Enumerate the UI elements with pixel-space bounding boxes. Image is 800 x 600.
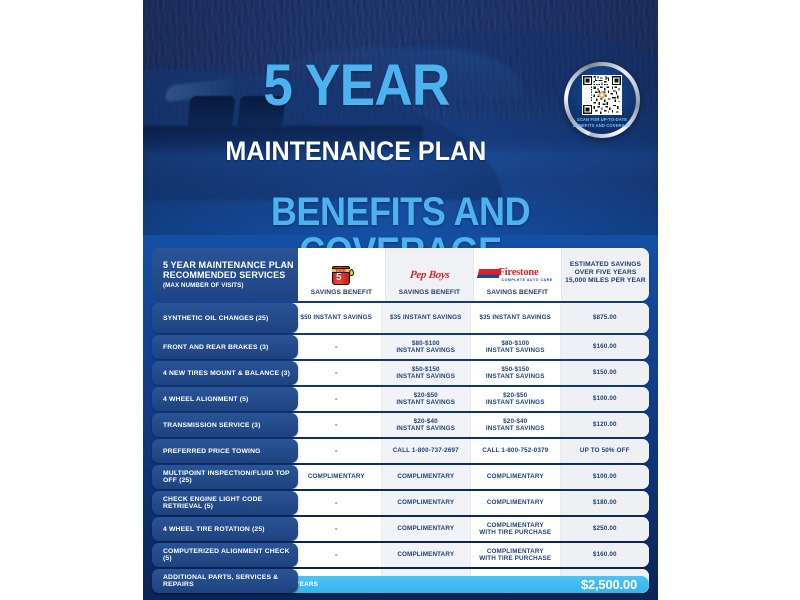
cell-text: $100.00 (593, 473, 617, 480)
qr-code-icon[interactable] (582, 75, 622, 115)
cell-text: COMPLIMENTARY (397, 525, 454, 532)
table-row: PREFERRED PRICE TOWING-CALL 1-800-737-26… (152, 439, 649, 463)
cell-text: $160.00 (593, 343, 617, 350)
table-header-brand-cells: TAKE 5 SAVINGS BENEFIT Pep Boys SAVINGS … (298, 248, 649, 301)
cell-text: $250.00 (593, 525, 617, 532)
table-row: TRANSMISSION SERVICE (3)-$20-$40INSTANT … (152, 413, 649, 437)
pep-boys-logo-icon: Pep Boys (410, 264, 449, 286)
cell-text: INSTANT SAVINGS (486, 347, 545, 354)
cell-text: WITH TIRE PURCHASE (479, 529, 551, 536)
cell-text: INSTANT SAVINGS (396, 399, 455, 406)
cell-firestone: COMPLIMENTARY (471, 465, 561, 489)
cell-text: COMPLIMENTARY (487, 548, 544, 555)
cell-text: UP TO 50% OFF (580, 447, 630, 454)
row-service-label: ADDITIONAL PARTS, SERVICES & REPAIRS (152, 569, 298, 593)
qr-caption-line-2: BENEFITS AND COVERAGE (573, 123, 631, 128)
cell-estimated-savings: UP TO 50% OFF (561, 439, 650, 463)
cell-text: COMPLIMENTARY (397, 551, 454, 558)
cell-text: INSTANT SAVINGS (396, 347, 455, 354)
cell-pep-boys: CALL 1-800-737-2697 (382, 439, 472, 463)
cell-take-5: - (292, 387, 382, 411)
cell-text: $100.00 (593, 395, 617, 402)
cell-text: - (335, 499, 338, 506)
cell-pep-boys: $50-$150INSTANT SAVINGS (382, 361, 472, 385)
cell-pep-boys: COMPLIMENTARY (382, 465, 472, 489)
cell-firestone: COMPLIMENTARYWITH TIRE PURCHASE (471, 543, 561, 567)
cell-text: WITH TIRE PURCHASE (479, 555, 551, 562)
header-label-line-3: (MAX NUMBER OF VISITS) (163, 281, 298, 290)
table-row: 4 WHEEL ALIGNMENT (5)-$20-$50INSTANT SAV… (152, 387, 649, 411)
estimated-savings-line-1: ESTIMATED SAVINGS (570, 261, 641, 268)
cell-text: INSTANT SAVINGS (486, 373, 545, 380)
firestone-logo-icon: Firestone COMPLETE AUTO CARE (478, 264, 558, 286)
benefits-table: 5 YEAR MAINTENANCE PLAN RECOMMENDED SERV… (143, 248, 658, 593)
cell-text: $180.00 (593, 499, 617, 506)
row-service-label: MULTIPOINT INSPECTION/FLUID TOP OFF (25) (152, 465, 298, 489)
cell-text: $80-$100 (412, 340, 440, 347)
row-value-cells: COMPLIMENTARYCOMPLIMENTARYCOMPLIMENTARY$… (292, 465, 649, 489)
cell-text: - (335, 421, 338, 428)
cell-take-5: COMPLIMENTARY (292, 465, 382, 489)
cell-take-5: $50 INSTANT SAVINGS (292, 303, 382, 333)
qr-caption-line-1: SCAN FOR UP-TO-DATE (573, 117, 631, 122)
cell-text: CALL 1-800-737-2697 (393, 447, 459, 454)
row-value-cells: -$50-$150INSTANT SAVINGS$50-$150INSTANT … (292, 361, 649, 385)
cell-pep-boys: $20-$40INSTANT SAVINGS (382, 413, 472, 437)
cell-pep-boys: COMPLIMENTARY (382, 543, 472, 567)
cell-text: $35 INSTANT SAVINGS (479, 314, 551, 321)
estimated-savings-column-header: ESTIMATED SAVINGS OVER FIVE YEARS 15,000… (562, 248, 649, 301)
cell-estimated-savings: $180.00 (561, 491, 650, 515)
row-value-cells: $50 INSTANT SAVINGS$35 INSTANT SAVINGS$3… (292, 303, 649, 333)
total-savings-value: $2,500.00 (581, 577, 637, 592)
row-service-label: CHECK ENGINE LIGHT CODE RETRIEVAL (5) (152, 491, 298, 515)
pep-boys-savings-benefit-label: SAVINGS BENEFIT (399, 289, 460, 296)
table-header-label: 5 YEAR MAINTENANCE PLAN RECOMMENDED SERV… (152, 248, 298, 301)
cell-estimated-savings: $100.00 (561, 387, 650, 411)
cell-text: $50 INSTANT SAVINGS (300, 314, 372, 321)
firestone-tagline: COMPLETE AUTO CARE (502, 278, 553, 282)
row-value-cells: -COMPLIMENTARYCOMPLIMENTARY$180.00 (292, 491, 649, 515)
cell-text: COMPLIMENTARY (308, 473, 365, 480)
cell-estimated-savings: $150.00 (561, 361, 650, 385)
row-service-label: FRONT AND REAR BRAKES (3) (152, 335, 298, 359)
page-subtitle: MAINTENANCE PLAN (161, 138, 640, 165)
cell-text: - (335, 369, 338, 376)
cell-text: $80-$100 (501, 340, 529, 347)
cell-estimated-savings: $100.00 (561, 465, 650, 489)
row-service-label: 4 NEW TIRES MOUNT & BALANCE (3) (152, 361, 298, 385)
brand-column-firestone: Firestone COMPLETE AUTO CARE SAVINGS BEN… (474, 248, 562, 301)
table-row: CHECK ENGINE LIGHT CODE RETRIEVAL (5)-CO… (152, 491, 649, 515)
cell-estimated-savings: $160.00 (561, 335, 650, 359)
row-service-label: SYNTHETIC OIL CHANGES (25) (152, 303, 298, 333)
cell-estimated-savings: $120.00 (561, 413, 650, 437)
cell-firestone: $35 INSTANT SAVINGS (471, 303, 561, 333)
cell-text: $50-$150 (412, 366, 440, 373)
table-row: SYNTHETIC OIL CHANGES (25)$50 INSTANT SA… (152, 303, 649, 333)
cell-take-5: - (292, 361, 382, 385)
cell-take-5: - (292, 439, 382, 463)
table-row: 4 NEW TIRES MOUNT & BALANCE (3)-$50-$150… (152, 361, 649, 385)
cell-text: CALL 1-800-752-0379 (482, 447, 548, 454)
cell-pep-boys: $20-$50INSTANT SAVINGS (382, 387, 472, 411)
cell-take-5: - (292, 517, 382, 541)
row-value-cells: -$20-$50INSTANT SAVINGS$20-$50INSTANT SA… (292, 387, 649, 411)
cell-text: $20-$40 (503, 418, 527, 425)
cell-estimated-savings: $250.00 (561, 517, 650, 541)
row-service-label: 4 WHEEL TIRE ROTATION (25) (152, 517, 298, 541)
table-row: COMPUTERIZED ALIGNMENT CHECK (5)-COMPLIM… (152, 543, 649, 567)
cell-text: $20-$40 (414, 418, 438, 425)
pep-boys-wordmark: Pep Boys (409, 269, 450, 281)
cell-text: COMPLIMENTARY (397, 473, 454, 480)
take-5-logo-icon: TAKE 5 (327, 264, 357, 286)
cell-text: $875.00 (593, 314, 617, 321)
row-service-label: 4 WHEEL ALIGNMENT (5) (152, 387, 298, 411)
cell-text: INSTANT SAVINGS (486, 399, 545, 406)
cell-text: INSTANT SAVINGS (486, 425, 545, 432)
maintenance-plan-poster: 5 YEAR MAINTENANCE PLAN BENEFITS AND COV… (143, 0, 658, 600)
brand-column-pep-boys: Pep Boys SAVINGS BENEFIT (386, 248, 474, 301)
qr-code-badge[interactable]: SCAN FOR UP-TO-DATE BENEFITS AND COVERAG… (564, 62, 640, 138)
estimated-savings-line-2: OVER FIVE YEARS (575, 269, 637, 276)
row-value-cells: -$80-$100INSTANT SAVINGS$80-$100INSTANT … (292, 335, 649, 359)
cell-text: INSTANT SAVINGS (396, 425, 455, 432)
row-value-cells: -$20-$40INSTANT SAVINGS$20-$40INSTANT SA… (292, 413, 649, 437)
cell-text: COMPLIMENTARY (487, 499, 544, 506)
brand-column-take-5: TAKE 5 SAVINGS BENEFIT (298, 248, 386, 301)
cell-take-5: - (292, 413, 382, 437)
estimated-savings-line-3: 15,000 MILES PER YEAR (565, 277, 646, 284)
row-service-label: TRANSMISSION SERVICE (3) (152, 413, 298, 437)
cell-take-5: - (292, 491, 382, 515)
row-value-cells: -COMPLIMENTARYCOMPLIMENTARYWITH TIRE PUR… (292, 517, 649, 541)
row-value-cells: -COMPLIMENTARYCOMPLIMENTARYWITH TIRE PUR… (292, 543, 649, 567)
cell-text: $20-$50 (503, 392, 527, 399)
qr-badge-inner: SCAN FOR UP-TO-DATE BENEFITS AND COVERAG… (568, 66, 636, 134)
cell-text: $120.00 (593, 421, 617, 428)
firestone-wordmark: Firestone (499, 267, 539, 278)
cell-firestone: $80-$100INSTANT SAVINGS (471, 335, 561, 359)
firestone-savings-benefit-label: SAVINGS BENEFIT (487, 289, 548, 296)
cell-estimated-savings: $875.00 (561, 303, 650, 333)
cell-text: COMPLIMENTARY (487, 522, 544, 529)
cell-text: $50-$150 (501, 366, 529, 373)
header-label-line-1: 5 YEAR MAINTENANCE PLAN (163, 260, 298, 271)
cell-firestone: $20-$50INSTANT SAVINGS (471, 387, 561, 411)
table-row: 4 WHEEL TIRE ROTATION (25)-COMPLIMENTARY… (152, 517, 649, 541)
cell-text: - (335, 343, 338, 350)
cell-pep-boys: $80-$100INSTANT SAVINGS (382, 335, 472, 359)
table-row: MULTIPOINT INSPECTION/FLUID TOP OFF (25)… (152, 465, 649, 489)
cell-pep-boys: COMPLIMENTARY (382, 491, 472, 515)
cell-text: $20-$50 (414, 392, 438, 399)
cell-firestone: $20-$40INSTANT SAVINGS (471, 413, 561, 437)
cell-firestone: $50-$150INSTANT SAVINGS (471, 361, 561, 385)
cell-text: INSTANT SAVINGS (396, 373, 455, 380)
header-label-line-2: RECOMMENDED SERVICES (163, 270, 298, 281)
row-service-label: PREFERRED PRICE TOWING (152, 439, 298, 463)
cell-text: - (335, 447, 338, 454)
table-header-row: 5 YEAR MAINTENANCE PLAN RECOMMENDED SERV… (152, 248, 649, 301)
cell-text: - (335, 551, 338, 558)
cell-take-5: - (292, 335, 382, 359)
cell-text: COMPLIMENTARY (487, 473, 544, 480)
cell-estimated-savings: $160.00 (561, 543, 650, 567)
cell-pep-boys: $35 INSTANT SAVINGS (382, 303, 472, 333)
take-5-savings-benefit-label: SAVINGS BENEFIT (311, 289, 372, 296)
row-service-label: COMPUTERIZED ALIGNMENT CHECK (5) (152, 543, 298, 567)
cell-text: - (335, 395, 338, 402)
cell-text: - (335, 525, 338, 532)
cell-text: $150.00 (593, 369, 617, 376)
cell-firestone: COMPLIMENTARYWITH TIRE PURCHASE (471, 517, 561, 541)
cell-text: COMPLIMENTARY (397, 499, 454, 506)
cell-take-5: - (292, 543, 382, 567)
row-value-cells: -CALL 1-800-737-2697CALL 1-800-752-0379U… (292, 439, 649, 463)
cell-text: $160.00 (593, 551, 617, 558)
cell-firestone: COMPLIMENTARY (471, 491, 561, 515)
table-row: FRONT AND REAR BRAKES (3)-$80-$100INSTAN… (152, 335, 649, 359)
cell-text: $35 INSTANT SAVINGS (390, 314, 462, 321)
cell-pep-boys: COMPLIMENTARY (382, 517, 472, 541)
table-body: SYNTHETIC OIL CHANGES (25)$50 INSTANT SA… (152, 303, 649, 593)
cell-firestone: CALL 1-800-752-0379 (471, 439, 561, 463)
qr-caption: SCAN FOR UP-TO-DATE BENEFITS AND COVERAG… (573, 117, 631, 127)
